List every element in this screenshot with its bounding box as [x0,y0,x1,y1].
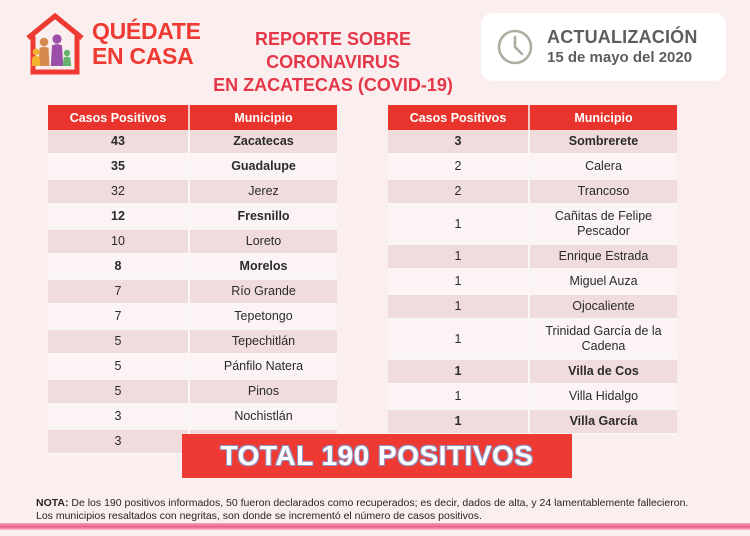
cell-cases: 12 [48,205,190,228]
cell-cases: 2 [388,180,530,203]
footnote: NOTA: De los 190 positivos informados, 5… [36,497,726,523]
update-date: 15 de mayo del 2020 [547,48,698,67]
table-row: 7Tepetongo [48,305,337,330]
footnote-label: NOTA: [36,497,68,509]
bottom-accent-bar [0,523,750,530]
report-title: REPORTE SOBRE CORONAVIRUS EN ZACATECAS (… [188,28,478,97]
cell-cases: 10 [48,230,190,253]
table-row: 1Enrique Estrada [388,245,677,270]
table-row: 7Río Grande [48,280,337,305]
table-row: 32Jerez [48,180,337,205]
cell-municipio: Trinidad García de la Cadena [530,320,677,358]
cell-cases: 7 [48,280,190,303]
cell-cases: 7 [48,305,190,328]
total-banner: TOTAL 190 POSITIVOS [182,434,572,478]
clock-icon [495,27,535,67]
cell-municipio: Loreto [190,230,337,253]
table-row: 35Guadalupe [48,155,337,180]
table-row: 1Trinidad García de la Cadena [388,320,677,360]
cell-cases: 1 [388,245,530,268]
cell-cases: 5 [48,380,190,403]
quedate-en-casa-logo: QUÉDATE EN CASA [22,10,201,78]
cell-municipio: Cañitas de Felipe Pescador [530,205,677,243]
cell-municipio: Sombrerete [530,130,677,153]
page-header: QUÉDATE EN CASA REPORTE SOBRE CORONAVIRU… [0,0,750,96]
table-row: 1Cañitas de Felipe Pescador [388,205,677,245]
cell-municipio: Morelos [190,255,337,278]
cell-cases: 1 [388,205,530,243]
table-row: 1Miguel Auza [388,270,677,295]
cell-municipio: Ojocaliente [530,295,677,318]
report-title-line-1: REPORTE SOBRE CORONAVIRUS [188,28,478,74]
cell-municipio: Miguel Auza [530,270,677,293]
footnote-text-1: De los 190 positivos informados, 50 fuer… [68,497,688,509]
positive-cases-table-right: Casos Positivos Municipio 3Sombrerete2Ca… [388,105,677,435]
table-row: 1Villa Hidalgo [388,385,677,410]
cell-municipio: Villa de Cos [530,360,677,383]
positive-cases-table-left: Casos Positivos Municipio 43Zacatecas35G… [48,105,337,455]
cell-municipio: Río Grande [190,280,337,303]
cell-cases: 1 [388,270,530,293]
table-row: 3Nochistlán [48,405,337,430]
cell-cases: 3 [48,430,190,453]
update-label: ACTUALIZACIÓN [547,27,698,48]
cell-cases: 3 [48,405,190,428]
cell-municipio: Pinos [190,380,337,403]
table-header-row: Casos Positivos Municipio [48,105,337,130]
column-header-municipio: Municipio [190,105,337,130]
logo-wordmark: QUÉDATE EN CASA [92,19,201,69]
table-row: 5Tepechitlán [48,330,337,355]
cell-municipio: Calera [530,155,677,178]
column-header-cases: Casos Positivos [48,105,190,130]
cell-cases: 1 [388,360,530,383]
logo-line-1: QUÉDATE [92,19,201,44]
cell-municipio: Enrique Estrada [530,245,677,268]
footnote-line-2: Los municipios resaltados con negritas, … [36,510,726,523]
table-row: 3Sombrerete [388,130,677,155]
table-header-row: Casos Positivos Municipio [388,105,677,130]
update-text-block: ACTUALIZACIÓN 15 de mayo del 2020 [547,27,698,67]
cell-municipio: Tepetongo [190,305,337,328]
total-banner-text: TOTAL 190 POSITIVOS [221,440,534,472]
cell-municipio: Jerez [190,180,337,203]
report-title-line-2: EN ZACATECAS (COVID-19) [188,74,478,97]
table-body-right: 3Sombrerete2Calera2Trancoso1Cañitas de F… [388,130,677,435]
table-body-left: 43Zacatecas35Guadalupe32Jerez12Fresnillo… [48,130,337,455]
footnote-line-1: NOTA: De los 190 positivos informados, 5… [36,497,726,510]
cell-municipio: Pánfilo Natera [190,355,337,378]
cell-cases: 2 [388,155,530,178]
cell-cases: 1 [388,410,530,433]
cell-cases: 5 [48,355,190,378]
cell-cases: 1 [388,385,530,408]
cell-cases: 43 [48,130,190,153]
cell-cases: 1 [388,295,530,318]
cell-municipio: Fresnillo [190,205,337,228]
cell-municipio: Villa García [530,410,677,433]
table-row: 1Ojocaliente [388,295,677,320]
table-row: 5Pánfilo Natera [48,355,337,380]
table-row: 10Loreto [48,230,337,255]
table-row: 1Villa de Cos [388,360,677,385]
column-header-cases: Casos Positivos [388,105,530,130]
logo-line-2: EN CASA [92,44,201,69]
cell-municipio: Nochistlán [190,405,337,428]
cell-municipio: Trancoso [530,180,677,203]
table-row: 2Trancoso [388,180,677,205]
cell-municipio: Tepechitlán [190,330,337,353]
cell-cases: 1 [388,320,530,358]
cell-cases: 5 [48,330,190,353]
table-row: 12Fresnillo [48,205,337,230]
column-header-municipio: Municipio [530,105,677,130]
cell-cases: 3 [388,130,530,153]
cell-cases: 8 [48,255,190,278]
table-row: 1Villa García [388,410,677,435]
cell-municipio: Guadalupe [190,155,337,178]
cell-cases: 32 [48,180,190,203]
table-row: 5Pinos [48,380,337,405]
cell-cases: 35 [48,155,190,178]
table-row: 43Zacatecas [48,130,337,155]
table-row: 8Morelos [48,255,337,280]
update-panel: ACTUALIZACIÓN 15 de mayo del 2020 [481,13,726,81]
cell-municipio: Villa Hidalgo [530,385,677,408]
table-row: 2Calera [388,155,677,180]
house-family-icon [22,10,88,78]
cell-municipio: Zacatecas [190,130,337,153]
